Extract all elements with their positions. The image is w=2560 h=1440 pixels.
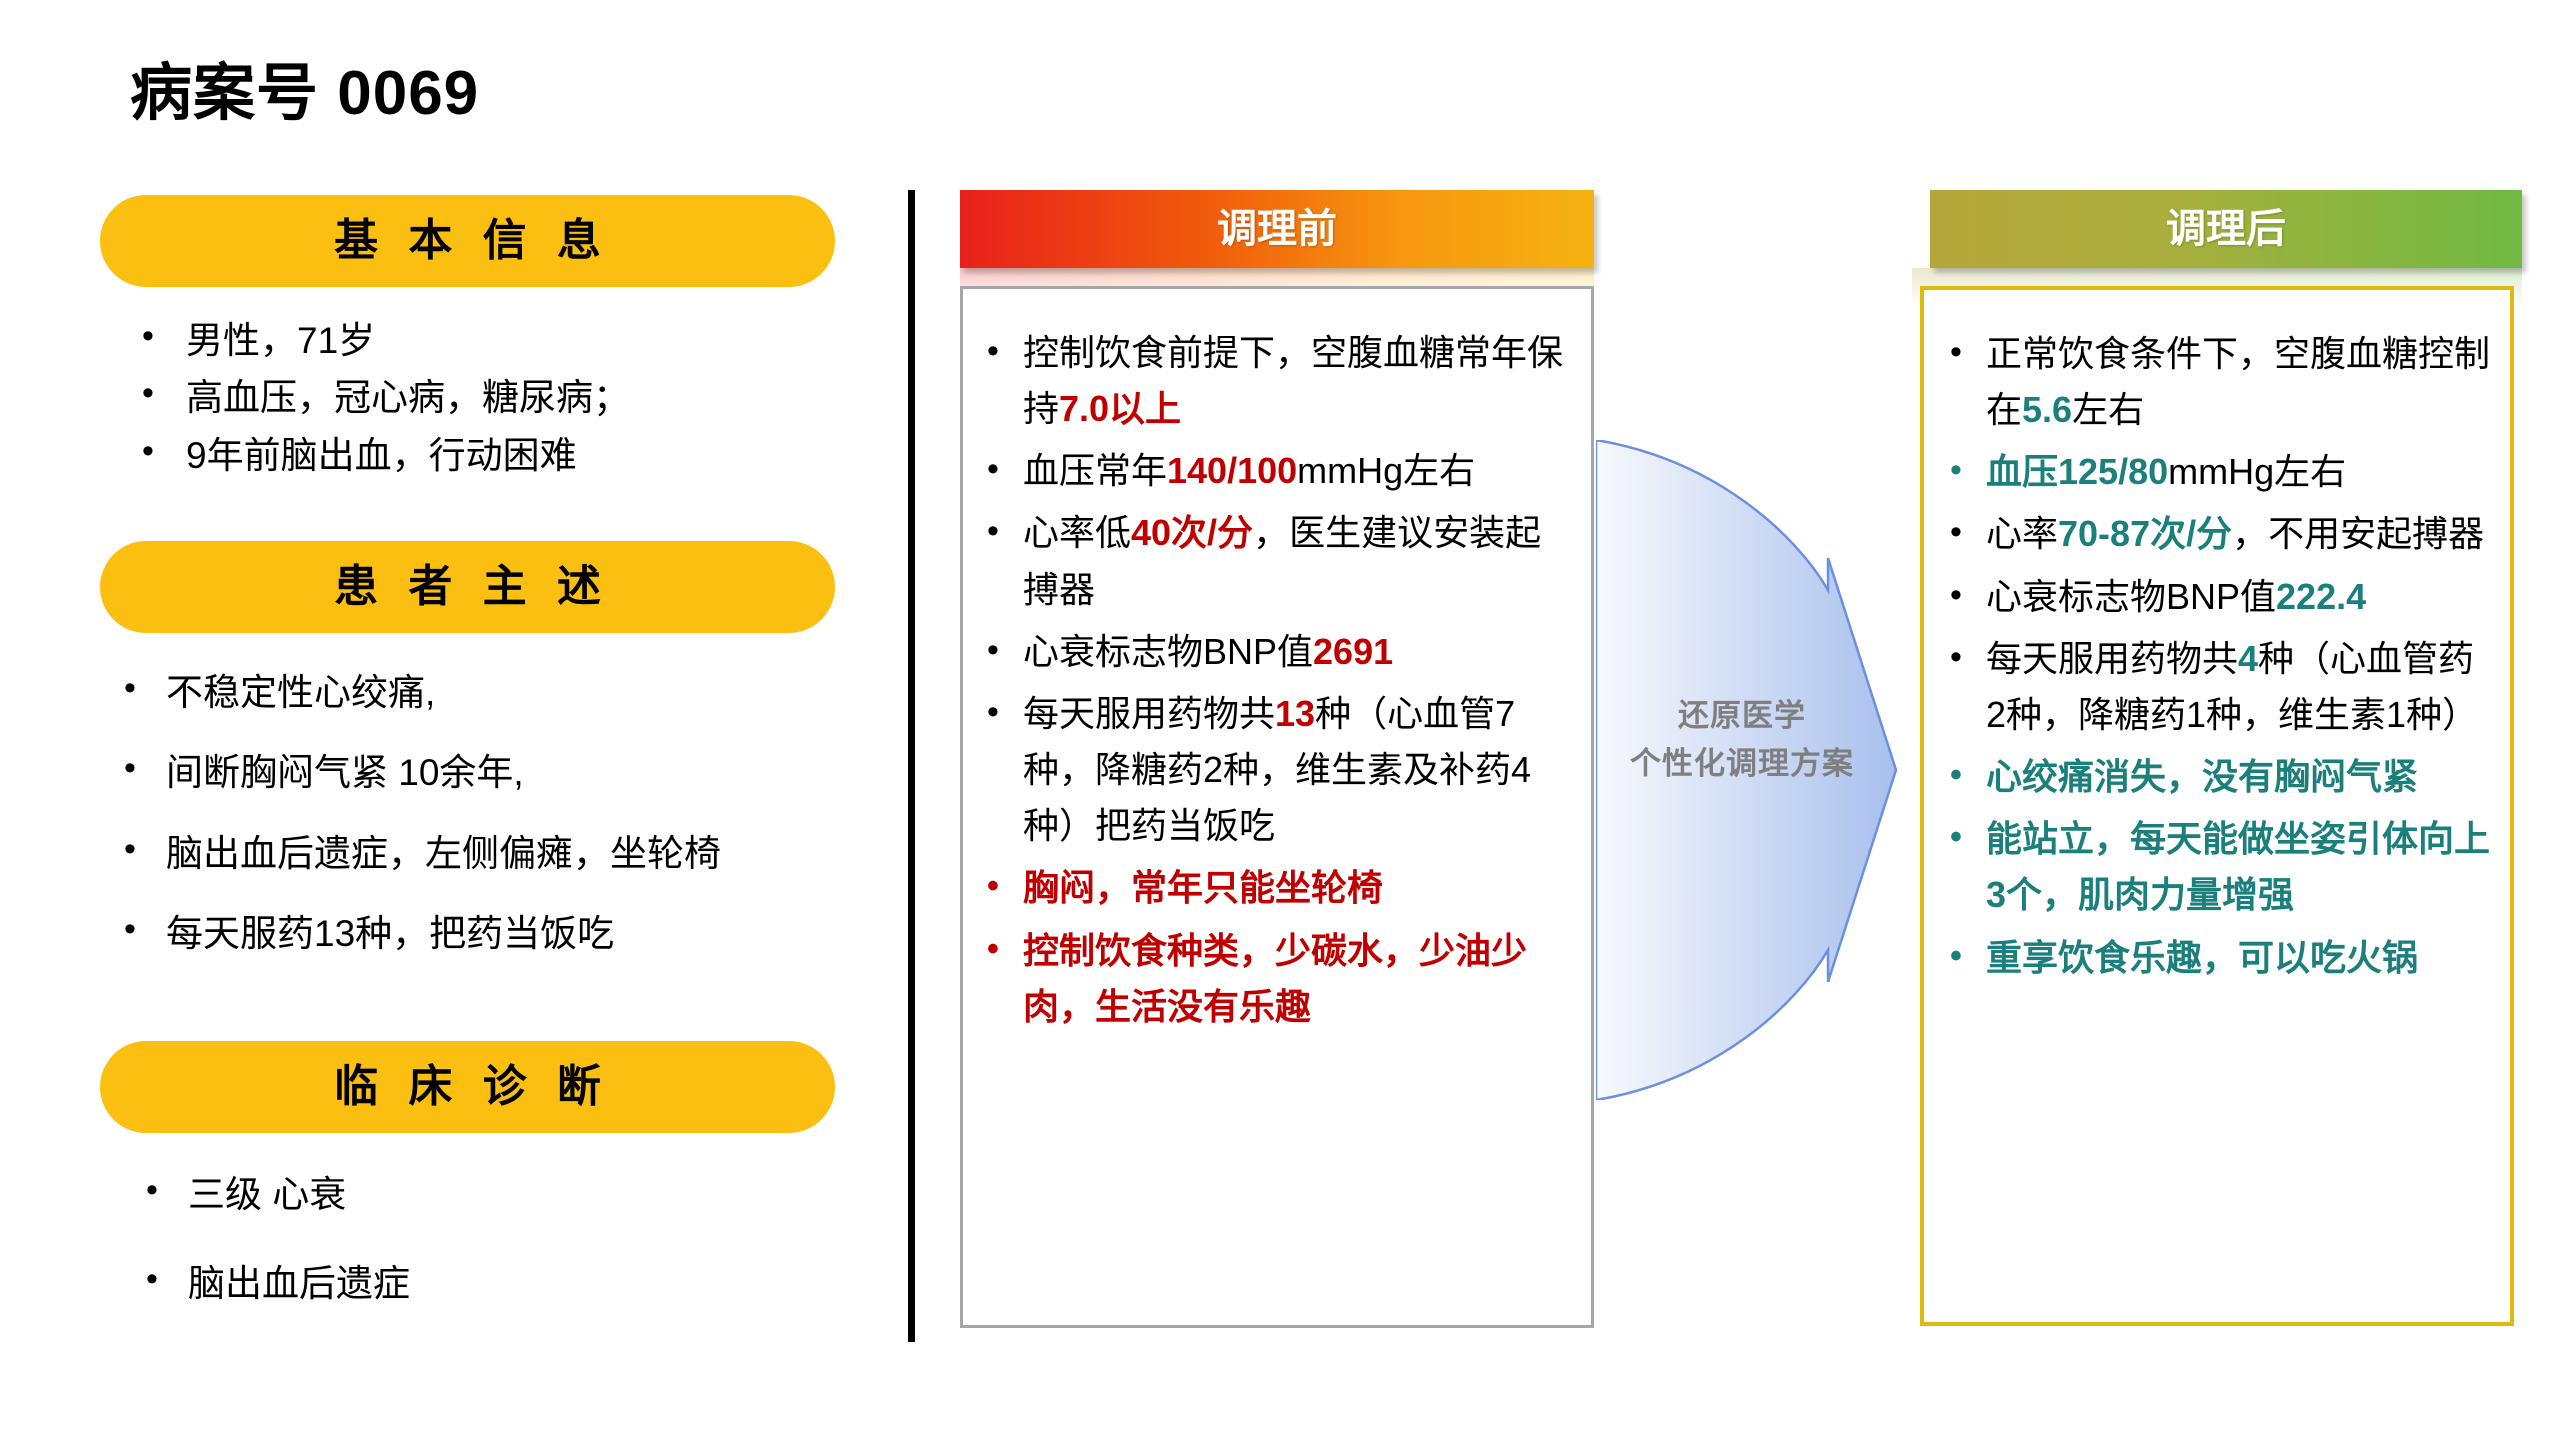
highlight-value: 7.0以上 xyxy=(1059,388,1181,429)
text-run: 心绞痛消失，没有胸闷气紧 xyxy=(1986,756,2418,797)
list-item: 重享饮食乐趣，可以吃火锅 xyxy=(1934,930,2492,986)
text-run: 心衰标志物BNP值 xyxy=(1023,631,1313,672)
text-run: 心率低 xyxy=(1023,512,1131,553)
highlight-value: 4 xyxy=(2238,638,2258,679)
list-item: 心衰标志物BNP值222.4 xyxy=(1934,569,2492,625)
list-item: 控制饮食前提下，空腹血糖常年保持7.0以上 xyxy=(971,325,1569,437)
highlight-value: 2691 xyxy=(1313,631,1393,672)
list-item: 每天服用药物共13种（心血管7种，降糖药2种，维生素及补药4种）把药当饭吃 xyxy=(971,686,1569,854)
left-column: 基 本 信 息 男性，71岁 高血压，冠心病，糖尿病； 9年前脑出血，行动困难 … xyxy=(100,195,890,1349)
arrow-label: 还原医学 个性化调理方案 xyxy=(1596,692,1888,788)
list-item: 心率70-87次/分，不用安起搏器 xyxy=(1934,506,2492,562)
highlight-value: 5.6 xyxy=(2022,389,2072,430)
basic-info-list: 男性，71岁 高血压，冠心病，糖尿病； 9年前脑出血，行动困难 xyxy=(100,317,890,479)
list-item: 每天服用药物共4种（心血管药2种，降糖药1种，维生素1种） xyxy=(1934,631,2492,743)
arrow-label-line-2: 个性化调理方案 xyxy=(1596,740,1888,788)
list-item: 不稳定性心绞痛, xyxy=(100,669,890,716)
before-metrics-list: 控制饮食前提下，空腹血糖常年保持7.0以上血压常年140/100mmHg左右心率… xyxy=(971,325,1569,1035)
list-item: 9年前脑出血，行动困难 xyxy=(100,432,890,479)
text-run: mmHg左右 xyxy=(1297,450,1475,491)
text-run: 每天服用药物共 xyxy=(1986,638,2238,679)
highlight-value: 40次/分 xyxy=(1131,512,1253,553)
text-run: mmHg左右 xyxy=(2168,451,2346,492)
highlight-value: 70-87次/分 xyxy=(2058,513,2232,554)
text-run: 重享饮食乐趣，可以吃火锅 xyxy=(1986,937,2418,978)
arrow-label-line-1: 还原医学 xyxy=(1596,692,1888,740)
text-run: 控制饮食种类，少碳水，少油少肉，生活没有乐趣 xyxy=(1023,930,1527,1027)
transition-arrow: 还原医学 个性化调理方案 xyxy=(1596,440,1926,1100)
list-item: 心衰标志物BNP值2691 xyxy=(971,624,1569,680)
highlight-value: 血压125/80 xyxy=(1986,451,2168,492)
list-item: 男性，71岁 xyxy=(100,317,890,364)
spacer xyxy=(100,991,890,1041)
list-item: 心绞痛消失，没有胸闷气紧 xyxy=(1934,749,2492,805)
list-item: 三级 心衰 xyxy=(100,1171,890,1218)
text-run: 心率 xyxy=(1986,513,2058,554)
patient-report-list: 不稳定性心绞痛, 间断胸闷气紧 10余年, 脑出血后遗症，左侧偏瘫，坐轮椅 每天… xyxy=(100,669,890,957)
list-item: 间断胸闷气紧 10余年, xyxy=(100,749,890,796)
list-item: 血压125/80mmHg左右 xyxy=(1934,444,2492,500)
text-run: 胸闷，常年只能坐轮椅 xyxy=(1023,867,1383,908)
list-item: 高血压，冠心病，糖尿病； xyxy=(100,374,890,421)
list-item: 能站立，每天能做坐姿引体向上3个，肌肉力量增强 xyxy=(1934,811,2492,923)
list-item: 正常饮食条件下，空腹血糖控制在5.6左右 xyxy=(1934,326,2492,438)
list-item: 脑出血后遗症 xyxy=(100,1260,890,1307)
list-item: 控制饮食种类，少碳水，少油少肉，生活没有乐趣 xyxy=(971,923,1569,1035)
after-panel: 调理后 正常饮食条件下，空腹血糖控制在5.6左右血压125/80mmHg左右心率… xyxy=(1912,190,2522,1326)
list-item: 脑出血后遗症，左侧偏瘫，坐轮椅 xyxy=(100,830,890,877)
list-item: 心率低40次/分，医生建议安装起搏器 xyxy=(971,505,1569,617)
after-panel-title: 调理后 xyxy=(1930,190,2522,268)
section-header-basic-info: 基 本 信 息 xyxy=(100,195,835,287)
text-run: 左右 xyxy=(2072,389,2144,430)
highlight-value: 222.4 xyxy=(2276,576,2366,617)
list-item: 每天服药13种，把药当饭吃 xyxy=(100,910,890,957)
section-header-patient-report: 患 者 主 述 xyxy=(100,541,835,633)
list-item: 血压常年140/100mmHg左右 xyxy=(971,443,1569,499)
before-panel: 调理前 控制饮食前提下，空腹血糖常年保持7.0以上血压常年140/100mmHg… xyxy=(960,190,1594,1328)
spacer xyxy=(100,489,890,541)
after-metrics-list: 正常饮食条件下，空腹血糖控制在5.6左右血压125/80mmHg左右心率70-8… xyxy=(1934,326,2492,986)
text-run: 能站立，每天能做坐姿引体向上3个，肌肉力量增强 xyxy=(1986,818,2490,915)
before-panel-body: 控制饮食前提下，空腹血糖常年保持7.0以上血压常年140/100mmHg左右心率… xyxy=(960,286,1594,1328)
text-run: 心衰标志物BNP值 xyxy=(1986,576,2276,617)
vertical-divider xyxy=(908,190,915,1342)
text-run: 血压常年 xyxy=(1023,450,1167,491)
text-run: ，不用安起搏器 xyxy=(2232,513,2484,554)
highlight-value: 140/100 xyxy=(1167,450,1297,491)
clinical-diagnosis-list: 三级 心衰 脑出血后遗症 xyxy=(100,1171,890,1308)
section-header-clinical-diagnosis: 临 床 诊 断 xyxy=(100,1041,835,1133)
text-run: 每天服用药物共 xyxy=(1023,693,1275,734)
list-item: 胸闷，常年只能坐轮椅 xyxy=(971,860,1569,916)
before-panel-title: 调理前 xyxy=(960,190,1594,268)
highlight-value: 13 xyxy=(1275,693,1315,734)
page-title: 病案号 0069 xyxy=(130,42,479,132)
after-panel-body: 正常饮食条件下，空腹血糖控制在5.6左右血压125/80mmHg左右心率70-8… xyxy=(1920,286,2514,1326)
